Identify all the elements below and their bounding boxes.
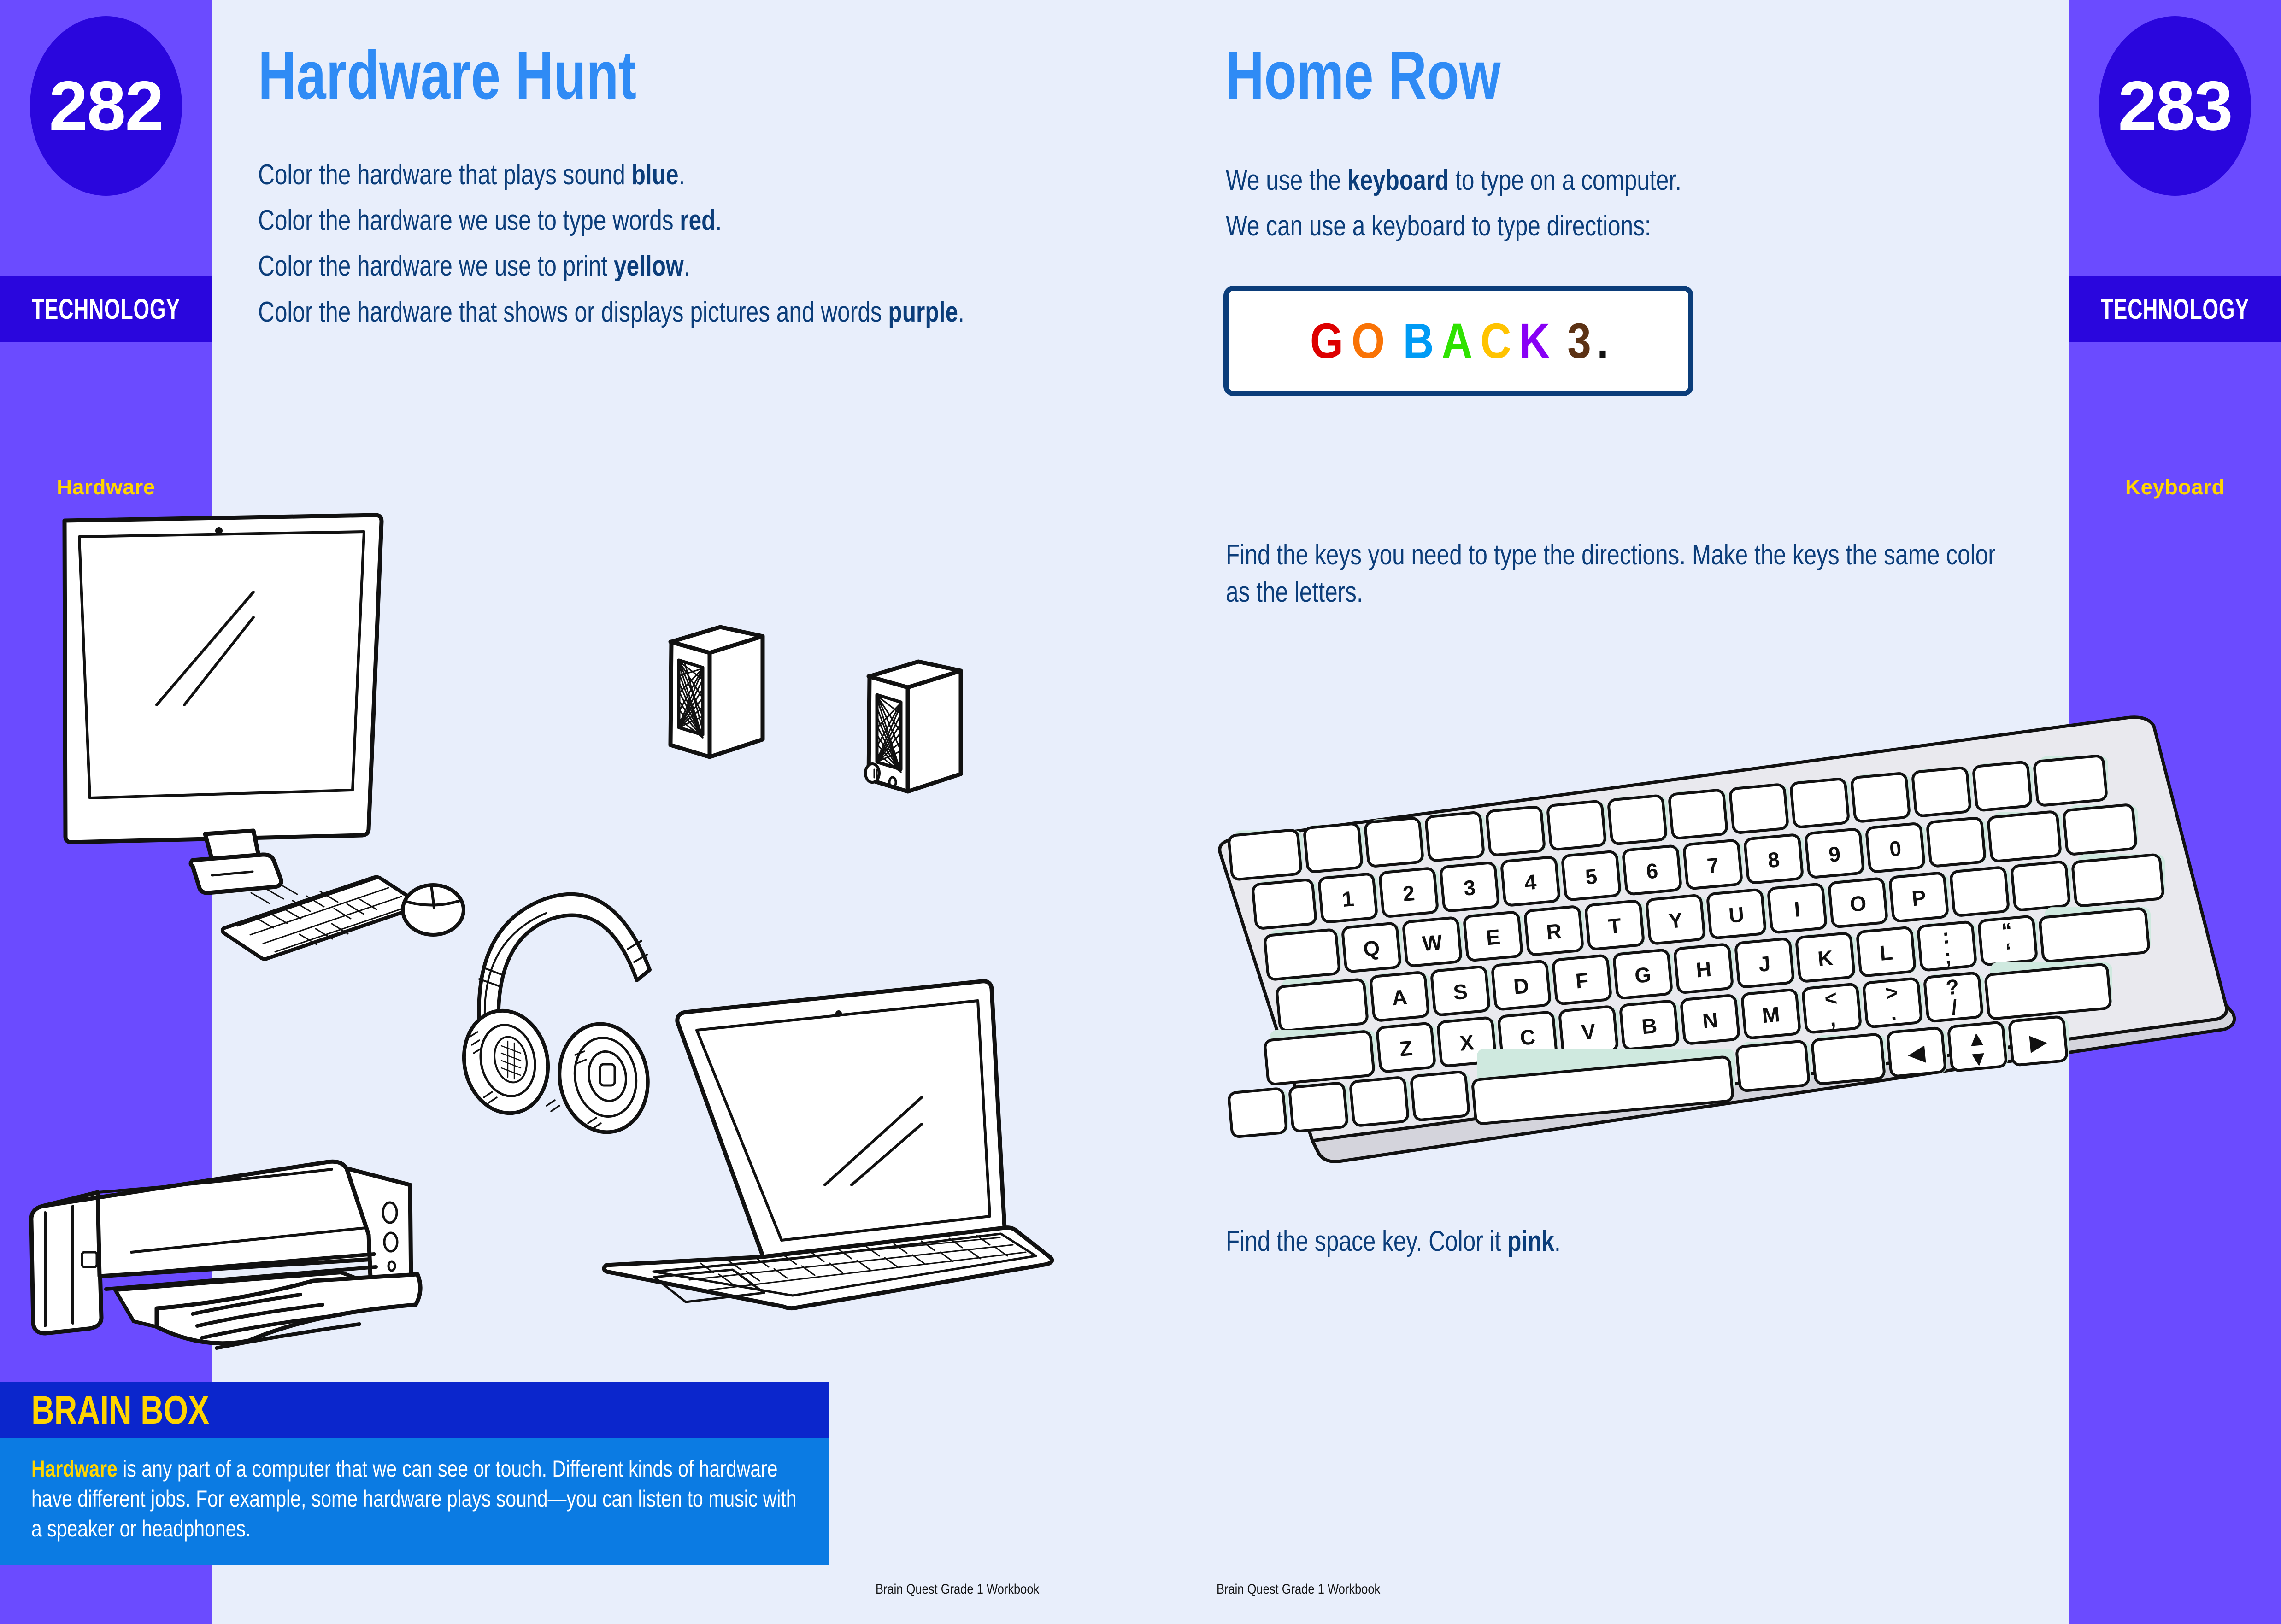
page-number-badge-right: 283	[2099, 16, 2251, 196]
key-label: 6	[1645, 858, 1659, 883]
page-number-right: 283	[2118, 66, 2232, 147]
page-number-left: 282	[49, 66, 163, 147]
key-function-row-blank-12[interactable]	[1973, 762, 2033, 810]
key-Z[interactable]: Z	[1377, 1023, 1436, 1072]
page-title-hardware-hunt: Hardware Hunt	[258, 41, 636, 110]
direction-letter: C	[1480, 316, 1511, 366]
key-6[interactable]: 6	[1623, 845, 1682, 894]
key-1[interactable]: 1	[1319, 874, 1378, 922]
key-F[interactable]: F	[1553, 955, 1612, 1004]
key-function-row-blank-0[interactable]	[1229, 830, 1303, 880]
instruction-line-4: Color the hardware that shows or display…	[258, 294, 1041, 331]
key-label: 0	[1888, 836, 1902, 861]
instruction-line-3: Color the hardware we use to print yello…	[258, 248, 1041, 285]
direction-word-3: 3.	[1565, 316, 1610, 366]
key-label: 1	[1341, 886, 1355, 911]
key-Y[interactable]: Y	[1646, 895, 1706, 944]
direction-letter: B	[1403, 316, 1434, 366]
printer-illustration	[18, 1143, 484, 1359]
key-3[interactable]: 3	[1440, 862, 1500, 911]
key-function-row-blank-7[interactable]	[1669, 790, 1728, 838]
key-label: U	[1728, 902, 1745, 927]
key-label: Y	[1668, 908, 1684, 933]
key-sym10[interactable]: ?/	[1924, 973, 1984, 1021]
direction-word-2: BACK	[1400, 316, 1552, 366]
task-text: Find the keys you need to type the direc…	[1226, 537, 2009, 611]
key-function-row-blank-2[interactable]	[1365, 818, 1424, 867]
key-label: J	[1758, 951, 1771, 976]
key-label: Q	[1362, 936, 1381, 961]
key-W[interactable]: W	[1403, 917, 1463, 966]
key-V[interactable]: V	[1559, 1006, 1619, 1055]
home-row-closing: Find the space key. Color it pink.	[1226, 1223, 2009, 1269]
key-label: R	[1545, 919, 1563, 944]
right-page-header: Home Row	[1226, 41, 1578, 110]
key-M[interactable]: M	[1742, 990, 1801, 1038]
key-label: M	[1761, 1002, 1781, 1027]
key-number-row-blank-12[interactable]	[1988, 811, 2062, 862]
brain-box-header: BRAIN BOX	[0, 1382, 829, 1438]
left-page-header: Hardware Hunt	[258, 41, 743, 110]
intro-line-1: We use the keyboard to type on a compute…	[1226, 162, 2009, 199]
key-sym11[interactable]: “‘	[1979, 916, 2038, 965]
key-bottom-row-blank-0[interactable]	[1264, 1030, 1376, 1085]
key-O[interactable]: O	[1829, 878, 1888, 927]
key-number-row-blank-13[interactable]	[2063, 804, 2138, 855]
emphasis-word: keyboard	[1347, 164, 1449, 196]
key-label: P	[1911, 885, 1927, 911]
direction-letter: 3	[1567, 316, 1591, 366]
key-label: 3	[1463, 875, 1476, 900]
key-label: 8	[1767, 847, 1781, 872]
emphasis-word: blue	[632, 159, 679, 191]
instruction-line-1: Color the hardware that plays sound blue…	[258, 157, 1041, 194]
key-P[interactable]: P	[1890, 873, 1949, 921]
key-J[interactable]: J	[1735, 938, 1795, 987]
key-space-row-blank-5[interactable]	[1736, 1041, 1811, 1091]
key-function-row-blank-4[interactable]	[1487, 807, 1546, 856]
direction-letter: .	[1597, 316, 1609, 366]
key-label: 7	[1706, 853, 1720, 878]
emphasis-word: yellow	[614, 250, 684, 282]
key-label: 9	[1828, 842, 1841, 867]
key-R[interactable]: R	[1525, 906, 1584, 955]
key-space-row-blank-6[interactable]	[1812, 1034, 1886, 1084]
key-label: B	[1640, 1014, 1658, 1039]
key-label: X	[1459, 1030, 1476, 1055]
key-9[interactable]: 9	[1805, 829, 1865, 878]
section-label-right: TECHNOLOGY	[2101, 293, 2249, 326]
closing-line-1: Find the space key. Color it pink.	[1226, 1223, 2009, 1261]
key-sym7[interactable]: ◀	[1887, 1027, 1947, 1076]
desktop-monitor-illustration	[46, 511, 581, 880]
key-home-row-blank-12[interactable]	[2040, 907, 2151, 962]
key-2[interactable]: 2	[1380, 868, 1439, 917]
laptop-illustration	[599, 977, 1064, 1336]
key-H[interactable]: H	[1675, 944, 1734, 993]
topic-word-right: Keyboard	[2069, 475, 2281, 499]
key-sym9[interactable]: >.	[1864, 978, 1923, 1027]
key-function-row-blank-10[interactable]	[1852, 773, 1911, 822]
key-S[interactable]: S	[1431, 967, 1491, 1015]
key-T[interactable]: T	[1586, 901, 1645, 950]
speaker-right-illustration	[864, 659, 1021, 815]
key-label: D	[1512, 973, 1530, 999]
speaker-left-illustration	[666, 624, 823, 781]
footer-right: Brain Quest Grade 1 Workbook	[1217, 1582, 1380, 1597]
key-qwerty-row-blank-11[interactable]	[1951, 867, 2010, 916]
key-E[interactable]: E	[1464, 912, 1523, 961]
key-label: H	[1695, 957, 1712, 982]
key-label: F	[1575, 968, 1590, 993]
key-qwerty-row-blank-13[interactable]	[2072, 854, 2165, 906]
emphasis-word: purple	[888, 296, 958, 328]
brain-box-title: BRAIN BOX	[31, 1388, 209, 1433]
key-label: ◀	[1906, 1040, 1926, 1066]
direction-letter: O	[1352, 316, 1385, 366]
key-I[interactable]: I	[1768, 884, 1828, 932]
key-home-row-blank-0[interactable]	[1276, 979, 1369, 1031]
key-space-row-blank-3[interactable]	[1411, 1072, 1470, 1120]
key-label: G	[1634, 962, 1652, 988]
key-label: ▶	[2028, 1029, 2048, 1055]
brain-box-term: Hardware	[31, 1456, 118, 1482]
direction-word-1: GO	[1307, 316, 1387, 366]
keyboard-illustration: 1234567890QWERTYUIOPASDFGHJKL:;“‘ZXCVBNM…	[1217, 682, 2281, 1200]
key-label: T	[1607, 914, 1623, 938]
key-sym9[interactable]: ▶	[2009, 1016, 2069, 1065]
key-space-row-blank-2[interactable]	[1350, 1077, 1410, 1126]
page-number-badge-left: 282	[30, 16, 182, 196]
key-sym8[interactable]: ▲▼	[1948, 1022, 2008, 1071]
key-number-row-blank-11[interactable]	[1927, 818, 1987, 867]
home-row-intro: We use the keyboard to type on a compute…	[1226, 162, 2009, 253]
key-K[interactable]: K	[1796, 933, 1856, 982]
hardware-instructions: Color the hardware that plays sound blue…	[258, 157, 1041, 340]
key-qwerty-row-blank-0[interactable]	[1264, 929, 1341, 980]
direction-letter: G	[1310, 316, 1343, 366]
key-function-row-blank-6[interactable]	[1608, 795, 1668, 844]
key-label: W	[1421, 930, 1444, 956]
key-sym8[interactable]: <,	[1803, 984, 1862, 1032]
key-number-row-blank-0[interactable]	[1252, 879, 1317, 929]
key-N[interactable]: N	[1681, 995, 1740, 1044]
key-function-row-blank-3[interactable]	[1426, 812, 1485, 861]
footer-left: Brain Quest Grade 1 Workbook	[876, 1582, 1039, 1597]
key-0[interactable]: 0	[1866, 823, 1926, 872]
key-function-row-blank-1[interactable]	[1304, 823, 1364, 872]
key-label: E	[1485, 925, 1501, 950]
key-label: S	[1452, 979, 1469, 1004]
key-L[interactable]: L	[1857, 927, 1917, 976]
key-label: 2	[1402, 881, 1416, 906]
key-Q[interactable]: Q	[1342, 923, 1402, 972]
brain-box-body: Hardware is any part of a computer that …	[0, 1438, 829, 1565]
key-label: L	[1879, 940, 1894, 965]
key-A[interactable]: A	[1370, 972, 1430, 1021]
key-space-row-blank-1[interactable]	[1289, 1083, 1349, 1132]
brain-box: BRAIN BOX Hardware is any part of a comp…	[0, 1382, 829, 1565]
emphasis-word: pink	[1507, 1225, 1554, 1257]
brain-box-definition: Hardware is any part of a computer that …	[31, 1454, 802, 1544]
key-label: A	[1391, 985, 1408, 1010]
key-label: K	[1817, 945, 1834, 971]
key-label: C	[1519, 1025, 1536, 1050]
key-label: V	[1581, 1019, 1597, 1044]
key-8[interactable]: 8	[1745, 834, 1804, 883]
key-function-row-blank-13[interactable]	[2034, 756, 2108, 806]
key-label: O	[1849, 891, 1867, 916]
key-B[interactable]: B	[1620, 1001, 1680, 1049]
key-function-row-blank-9[interactable]	[1791, 779, 1850, 827]
direction-letter: K	[1519, 316, 1550, 366]
key-label: N	[1701, 1008, 1719, 1033]
key-label: ▼	[1967, 1045, 1990, 1071]
instruction-line-2: Color the hardware we use to type words …	[258, 202, 1041, 240]
key-label: Z	[1399, 1036, 1414, 1061]
page-title-home-row: Home Row	[1226, 41, 1500, 110]
key-label: 4	[1523, 870, 1538, 895]
key-space-row-blank-0[interactable]	[1229, 1088, 1288, 1137]
topic-word-left: Hardware	[0, 475, 212, 499]
direction-box: GOBACK3.	[1223, 286, 1693, 396]
key-U[interactable]: U	[1707, 889, 1767, 938]
key-label: 5	[1584, 864, 1598, 889]
intro-line-2: We can use a keyboard to type directions…	[1226, 208, 2009, 245]
key-4[interactable]: 4	[1501, 857, 1561, 906]
key-G[interactable]: G	[1614, 950, 1673, 998]
emphasis-word: red	[680, 205, 715, 236]
key-space[interactable]	[1472, 1049, 1735, 1124]
workbook-spread: 282 TECHNOLOGY Hardware 283 TECHNOLOGY K…	[0, 0, 2281, 1624]
home-row-task: Find the keys you need to type the direc…	[1226, 537, 2009, 620]
key-function-row-blank-11[interactable]	[1912, 768, 1972, 816]
section-band-left: TECHNOLOGY	[0, 276, 212, 342]
key-qwerty-row-blank-12[interactable]	[2011, 862, 2071, 910]
key-7[interactable]: 7	[1684, 840, 1743, 889]
key-D[interactable]: D	[1492, 961, 1552, 1009]
direction-letter: A	[1441, 316, 1472, 366]
key-5[interactable]: 5	[1562, 851, 1622, 900]
key-function-row-blank-5[interactable]	[1547, 801, 1607, 850]
key-bottom-row-blank-11[interactable]	[1985, 962, 2112, 1019]
section-band-right: TECHNOLOGY	[2069, 276, 2281, 342]
key-function-row-blank-8[interactable]	[1730, 784, 1789, 833]
key-sym10[interactable]: :;	[1918, 921, 1977, 970]
section-label-left: TECHNOLOGY	[32, 293, 180, 326]
